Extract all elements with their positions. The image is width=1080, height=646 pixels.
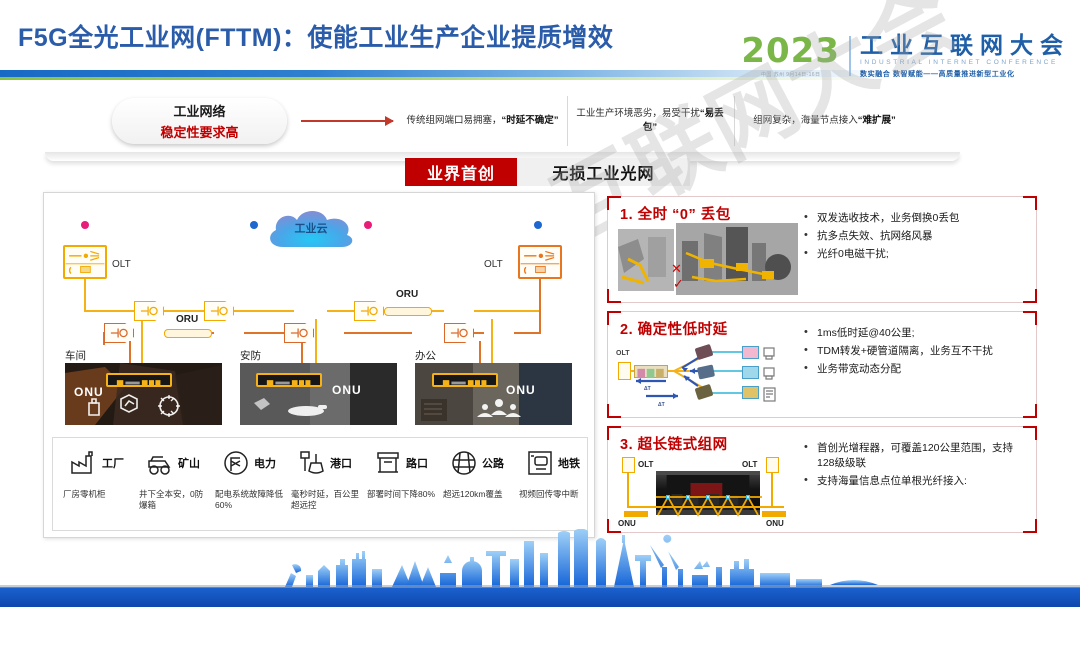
feature-card-3: 3. 超长链式组网 OLT OLT O bbox=[607, 426, 1037, 533]
site-caption-0: 车间 bbox=[65, 348, 86, 363]
site-caption-2: 办公 bbox=[415, 348, 436, 363]
problem-strong-0: “时延不确定” bbox=[502, 115, 559, 126]
site-caption-1: 安防 bbox=[240, 348, 261, 363]
terminal-monitor-3 bbox=[742, 386, 759, 399]
scenario-name-0: 工厂 bbox=[102, 455, 124, 471]
scenario-item-1: 矿山 井下全本安，0防爆箱 bbox=[135, 446, 211, 512]
onu-label-2: ONU bbox=[506, 383, 536, 397]
oru-module-2 bbox=[384, 307, 432, 316]
feature-bullet: 支持海量信息点位单根光纤接入: bbox=[804, 474, 1030, 489]
mine-truck-icon bbox=[146, 449, 176, 477]
logo-slogan: 数实融合 数智赋能——高质量推进新型工业化 bbox=[860, 69, 1070, 79]
problem-text-2: 组网复杂，海量节点接入 bbox=[753, 115, 858, 126]
scenario-desc-5: 超远120km覆盖 bbox=[439, 489, 515, 500]
feature-title-3: 3. 超长链式组网 bbox=[620, 433, 728, 454]
splitter-node bbox=[686, 495, 690, 499]
terminal-monitor-2 bbox=[742, 366, 759, 379]
corner-mark bbox=[607, 311, 621, 325]
scenario-item-0: 工厂 厂房零机柜 bbox=[59, 446, 135, 500]
onu-label-left: ONU bbox=[618, 519, 636, 528]
section-banner: 业界首创 无损工业光网 bbox=[405, 158, 690, 186]
feature-art-1: ✕ ✓ bbox=[616, 223, 798, 297]
onu-device-left bbox=[624, 511, 648, 517]
feature-bullets-1: 双发选收技术，业务倒换0丢包 抗多点失效、抗网络风暴 光纤0电磁干扰; bbox=[804, 211, 1030, 265]
page-header: F5G全光工业网(FTTM)：使能工业生产企业提质增效 2023 中国 苏州 9… bbox=[0, 0, 1080, 90]
splitter-node bbox=[706, 495, 710, 499]
junction-icon bbox=[374, 449, 404, 477]
scenario-item-4: 路口 部署时间下降80% bbox=[363, 446, 439, 500]
factory-icon bbox=[70, 449, 100, 477]
logo-title-cn: 工业互联网大会 bbox=[860, 33, 1070, 57]
svg-text:ΔT: ΔT bbox=[658, 402, 665, 408]
oru-module-1 bbox=[164, 329, 212, 338]
scenario-name-1: 矿山 bbox=[178, 455, 200, 471]
conference-logo: 2023 中国 苏州 9月14日-16日 工业互联网大会 INDUSTRIAL … bbox=[741, 30, 1070, 82]
requirement-pill-line2: 稳定性要求高 bbox=[160, 122, 238, 141]
logo-year-subtitle: 中国 苏州 9月14日-16日 bbox=[741, 71, 840, 78]
network-diagram: 工业云 bbox=[44, 193, 596, 431]
scenario-desc-6: 视频回传零中断 bbox=[515, 489, 591, 500]
problem-cell-1: 工业生产环境恶劣，易受干扰“易丢包” bbox=[567, 96, 732, 146]
feature-bullet: 1ms低时延@40公里; bbox=[804, 326, 1030, 341]
scenario-name-6: 地铁 bbox=[558, 455, 580, 471]
corner-mark bbox=[1023, 196, 1037, 210]
check-mark-icon: ✓ bbox=[673, 276, 684, 292]
splitter-node bbox=[726, 495, 730, 499]
feature-bullet: 抗多点失效、抗网络风暴 bbox=[804, 229, 1030, 244]
corner-mark bbox=[1023, 404, 1037, 418]
plant-photo-left bbox=[618, 229, 674, 291]
cloud-label: 工业云 bbox=[263, 220, 359, 236]
optical-splitter-2 bbox=[204, 301, 234, 321]
terminal-devices-icons bbox=[760, 342, 796, 408]
logo-year-block: 2023 中国 苏州 9月14日-16日 bbox=[741, 34, 840, 78]
logo-divider bbox=[849, 36, 851, 76]
terminal-monitor-1 bbox=[742, 346, 759, 359]
feature-art-2: OLT ΔT ΔT bbox=[616, 338, 798, 412]
optical-splitter-6 bbox=[444, 323, 474, 343]
feature-card-1: 1. 全时 “0” 丢包 bbox=[607, 196, 1037, 303]
optical-splitter-3 bbox=[354, 301, 384, 321]
scenario-name-4: 路口 bbox=[406, 455, 428, 471]
requirement-pill-line1: 工业网络 bbox=[173, 101, 225, 120]
scenario-item-6: 地铁 视频回传零中断 bbox=[515, 446, 591, 500]
banner-title: 无损工业光网 bbox=[517, 158, 690, 186]
scenario-name-5: 公路 bbox=[482, 455, 504, 471]
problem-text-0: 传统组网端口易拥塞， bbox=[406, 115, 501, 126]
svg-text:ΔT: ΔT bbox=[644, 386, 651, 392]
feature-bullet: 光纤0电磁干扰; bbox=[804, 247, 1030, 262]
optical-splitter-4 bbox=[104, 323, 134, 343]
power-icon bbox=[222, 449, 252, 477]
feature-bullets-2: 1ms低时延@40公里; TDM转发+硬管道隔离，业务互不干扰 业务带宽动态分配 bbox=[804, 326, 1030, 380]
problem-cell-2: 组网复杂，海量节点接入“难扩展” bbox=[734, 96, 914, 146]
city-skyline-decoration bbox=[0, 529, 1080, 607]
scenario-name-3: 港口 bbox=[330, 455, 352, 471]
scenario-item-3: 港口 毫秒时延，百公里超远控 bbox=[287, 446, 363, 512]
onu-label-right: ONU bbox=[766, 519, 784, 528]
onu-label-0: ONU bbox=[74, 385, 104, 399]
feature-title-1: 1. 全时 “0” 丢包 bbox=[620, 203, 731, 224]
feature-art-3: OLT OLT ONU ONU bbox=[616, 453, 798, 527]
scenario-desc-3: 毫秒时延，百公里超远控 bbox=[287, 489, 363, 512]
corner-mark bbox=[1023, 426, 1037, 440]
scenario-item-2: 电力 配电系统故障降低60% bbox=[211, 446, 287, 512]
splitter-node bbox=[746, 495, 750, 499]
scenario-desc-1: 井下全本安，0防爆箱 bbox=[135, 489, 211, 512]
banner-tag: 业界首创 bbox=[405, 158, 517, 186]
oru-label-1: ORU bbox=[176, 314, 198, 325]
scenario-desc-2: 配电系统故障降低60% bbox=[211, 489, 287, 512]
cross-mark-icon: ✕ bbox=[671, 261, 682, 277]
scenario-desc-4: 部署时间下降80% bbox=[363, 489, 439, 500]
scenario-desc-0: 厂房零机柜 bbox=[59, 489, 135, 500]
feature-bullet: 首创光增程器，可覆盖120公里范围，支持128级级联 bbox=[804, 441, 1030, 471]
highway-icon bbox=[450, 449, 480, 477]
network-topology-panel: 工业云 bbox=[43, 192, 595, 538]
problem-cell-0: 传统组网端口易拥塞，“时延不确定” bbox=[400, 96, 565, 146]
feature-bullet: 业务带宽动态分配 bbox=[804, 362, 1030, 377]
oru-label-2: ORU bbox=[396, 289, 418, 300]
feature-title-2: 2. 确定性低时延 bbox=[620, 318, 728, 339]
feature-bullets-3: 首创光增程器，可覆盖120公里范围，支持128级级联 支持海量信息点位单根光纤接… bbox=[804, 441, 1030, 492]
corner-mark bbox=[1023, 289, 1037, 303]
arrow-icon bbox=[301, 120, 393, 122]
olt-linecard bbox=[634, 365, 668, 378]
feature-bullet: TDM转发+硬管道隔离，业务互不干扰 bbox=[804, 344, 1030, 359]
optical-splitter-1 bbox=[134, 301, 164, 321]
onu-device-0 bbox=[106, 373, 172, 387]
corner-mark bbox=[607, 426, 621, 440]
requirement-pill: 工业网络 稳定性要求高 bbox=[112, 98, 287, 144]
optical-splitter-5 bbox=[284, 323, 314, 343]
feature-card-2: 2. 确定性低时延 OLT ΔT ΔT bbox=[607, 311, 1037, 418]
problem-text-1: 工业生产环境恶劣，易受干扰 bbox=[576, 108, 700, 119]
splitter-node bbox=[666, 495, 670, 499]
problem-bar: 工业网络 稳定性要求高 传统组网端口易拥塞，“时延不确定” 工业生产环境恶劣，易… bbox=[45, 96, 995, 154]
problem-strong-2: “难扩展” bbox=[858, 115, 896, 126]
logo-title-en: INDUSTRIAL INTERNET CONFERENCE bbox=[860, 59, 1070, 66]
corner-mark bbox=[607, 196, 621, 210]
onu-device-right bbox=[762, 511, 786, 517]
industry-scenarios-strip: 工厂 厂房零机柜 矿山 井下全本安，0防爆箱 bbox=[52, 437, 588, 531]
feature-bullet: 双发选收技术，业务倒换0丢包 bbox=[804, 211, 1030, 226]
onu-device-2 bbox=[432, 373, 498, 387]
logo-year: 2023 bbox=[741, 34, 840, 68]
logo-text-block: 工业互联网大会 INDUSTRIAL INTERNET CONFERENCE 数… bbox=[860, 33, 1070, 79]
page-title: F5G全光工业网(FTTM)：使能工业生产企业提质增效 bbox=[18, 18, 613, 54]
plant-photo-right bbox=[676, 223, 798, 295]
onu-label-1: ONU bbox=[332, 383, 362, 397]
scenario-name-2: 电力 bbox=[254, 455, 276, 471]
metro-icon bbox=[526, 449, 556, 477]
port-crane-icon bbox=[298, 449, 328, 477]
corner-mark bbox=[1023, 311, 1037, 325]
onu-device-1 bbox=[256, 373, 322, 387]
scenario-item-5: 公路 超远120km覆盖 bbox=[439, 446, 515, 500]
